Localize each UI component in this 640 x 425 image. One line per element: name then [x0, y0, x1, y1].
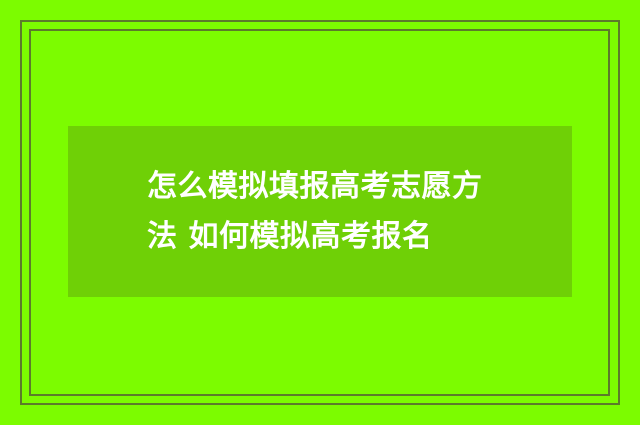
- title-line-2: 法 如何模拟高考报名: [147, 212, 432, 262]
- title-panel: 怎么模拟填报高考志愿方 法 如何模拟高考报名: [68, 126, 572, 297]
- title-card: 怎么模拟填报高考志愿方 法 如何模拟高考报名: [0, 0, 640, 425]
- title-line-1: 怎么模拟填报高考志愿方: [147, 162, 483, 212]
